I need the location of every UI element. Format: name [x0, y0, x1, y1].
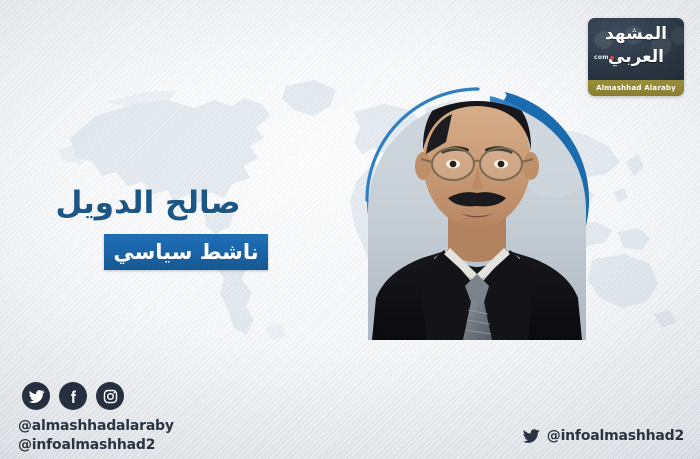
social-handles: @almashhadalaraby @infoalmashhad2 [18, 417, 174, 455]
footer-handle-text: @infoalmashhad2 [547, 428, 684, 444]
logo-arabic-line1: المشهد [588, 26, 684, 43]
portrait-container [340, 52, 612, 348]
person-title-banner: ناشط سياسي [104, 234, 268, 270]
social-media-card: المشهد العربي com Almashhad Alaraby [0, 0, 700, 459]
handle-secondary[interactable]: @infoalmashhad2 [18, 436, 174, 455]
social-icon-row [22, 382, 124, 410]
twitter-bird-icon [522, 427, 540, 445]
footer-twitter-block[interactable]: @infoalmashhad2 [522, 427, 684, 445]
instagram-icon[interactable] [96, 382, 124, 410]
person-title-text: ناشط سياسي [113, 242, 258, 263]
person-name: صالح الدويل [0, 186, 296, 220]
facebook-icon[interactable] [59, 382, 87, 410]
twitter-icon[interactable] [22, 382, 50, 410]
handle-primary[interactable]: @almashhadalaraby [18, 417, 174, 436]
portrait-photo [368, 58, 586, 340]
